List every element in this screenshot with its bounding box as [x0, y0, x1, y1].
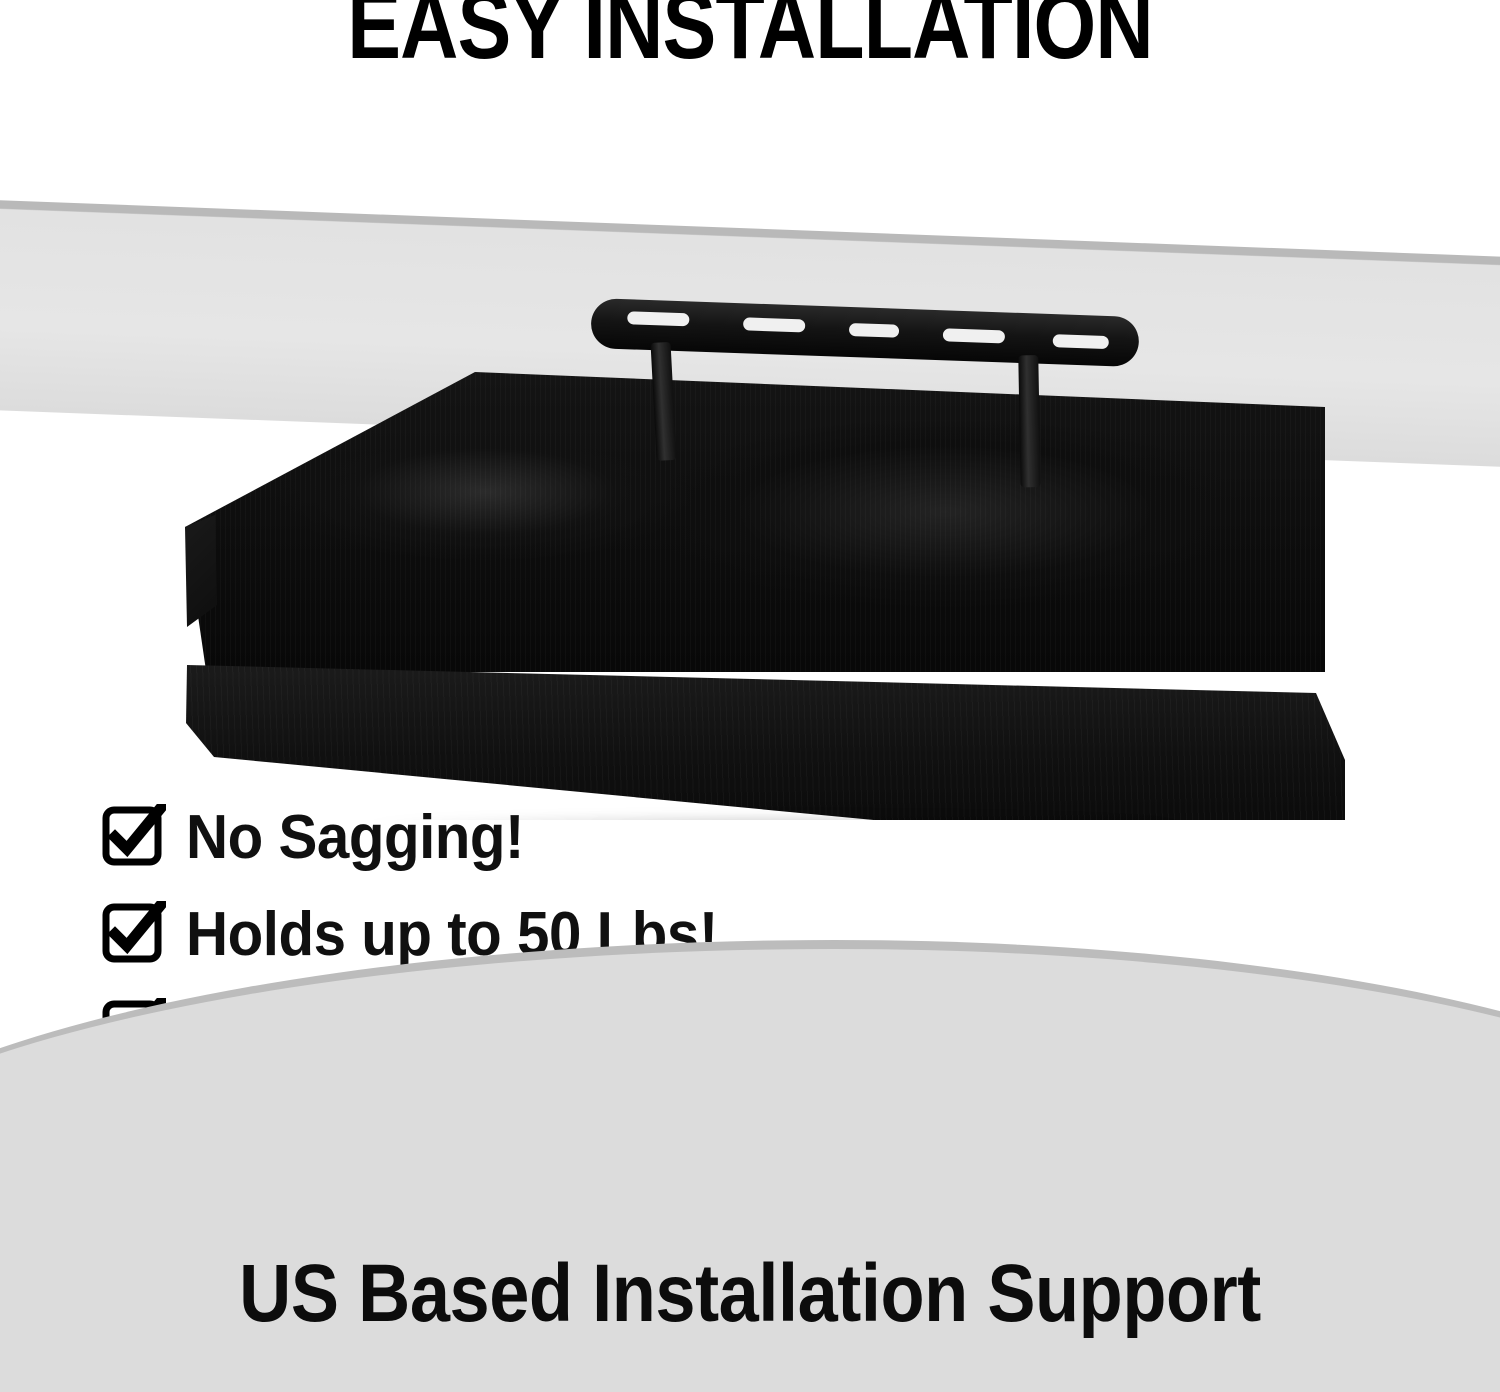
bracket-slot — [849, 323, 899, 338]
checkbox-checked-icon — [98, 901, 166, 969]
product-marketing-image: EASY INSTALLATION — [0, 0, 1500, 1392]
list-item: No Sagging! — [98, 790, 998, 886]
bracket-slot — [1053, 334, 1109, 349]
bracket-slot — [627, 311, 689, 326]
bottom-banner-text: US Based Installation Support — [90, 1253, 1410, 1335]
feature-label: No Sagging! — [186, 807, 524, 869]
page-title: EASY INSTALLATION — [120, 0, 1380, 74]
shelf-top-surface — [185, 372, 1325, 672]
product-photo — [0, 120, 1500, 820]
checkbox-checked-icon — [98, 804, 166, 872]
floating-shelf — [0, 120, 1500, 820]
bracket-slot — [743, 317, 805, 332]
bracket-rod — [1018, 355, 1040, 487]
bracket-slot — [943, 328, 1005, 343]
